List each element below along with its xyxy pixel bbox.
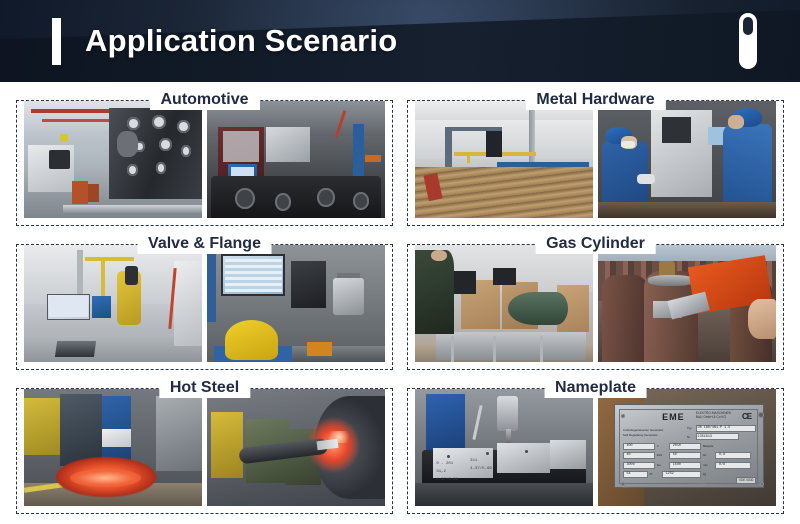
field-label: kg [703,472,706,476]
nameplate-brand-subtitle: ELEKTRO-MASCHINEN BAU GmbH & Co KG [696,412,731,419]
robot-cell-laptop-photo [24,245,202,362]
field-label: IP [650,472,653,476]
scenario-card-hot-steel[interactable]: Hot Steel [16,378,393,514]
card-label-valve-flange: Valve & Flange [137,234,272,254]
field-value: 2010 [673,444,681,448]
scenario-card-gas-cylinder[interactable]: Gas Cylinder [407,234,784,370]
title-accent-bar [52,18,61,65]
field-label: Nr [687,435,690,439]
page-header: Application Scenario [0,0,800,82]
scenario-card-nameplate[interactable]: Nameplate 0 - 201 311 31,2 4-37/5-90 4-3… [407,378,784,514]
field-value: 0,8 [719,453,725,457]
field-label: Hz [703,453,707,457]
field-label: Typ [687,426,692,430]
field-value: 54 [626,472,630,476]
steel-bar-gantry-photo [415,101,593,218]
workers-machining-photo [598,101,776,218]
field-label: kVA [657,453,662,457]
ce-mark-icon: CE [742,412,751,421]
field-value: 0/8 [719,463,725,467]
handheld-marking-device-icon [738,12,758,70]
nameplate-title-de: Antriebsgesteuerter Generator [623,428,664,432]
field-value: 1252 [666,472,674,476]
nameplate-brand: EME [662,412,685,422]
hot-steel-probe-photo [207,389,385,506]
eme-nameplate-photo: EME ELEKTRO-MASCHINEN BAU GmbH & Co KG C… [598,389,776,506]
automotive-press-line-photo [24,101,202,218]
card-photos: 0 - 201 311 31,2 4-37/5-90 4-37/5-90 [415,389,776,506]
field-value: 400 [626,444,632,448]
dot-peen-nameplate-photo: 0 - 201 311 31,2 4-37/5-90 4-37/5-90 [415,389,593,506]
engraved-line: 31,2 [436,470,446,474]
card-label-nameplate: Nameplate [544,378,647,398]
worker-yellow-helmet-photo [207,245,385,362]
card-photos [24,101,385,218]
field-label: Iso [657,463,661,467]
handheld-marker-cylinders-photo [598,245,776,362]
field-label: Baujahr [703,444,713,448]
field-value: DR 180/4N1-P 1.5 [698,426,731,430]
cylinder-conveyor-photo [415,245,593,362]
card-photos [24,389,385,506]
card-label-metal-hardware: Metal Hardware [525,90,665,110]
scenario-card-automotive[interactable]: Automotive [16,90,393,226]
card-label-automotive: Automotive [150,90,260,110]
card-photos [415,101,776,218]
card-photos [24,245,385,362]
engraved-line: 4-37/5-90 [470,467,492,471]
engraved-line: 0 - 201 [436,462,453,466]
engraved-line: 4-37/5-90 [436,478,458,482]
card-photos [415,245,776,362]
engraved-line: 311 [470,459,477,463]
card-label-gas-cylinder: Gas Cylinder [535,234,656,254]
card-label-hot-steel: Hot Steel [159,378,250,398]
page-title: Application Scenario [85,19,397,63]
field-label: min [703,463,708,467]
scenario-card-metal-hardware[interactable]: Metal Hardware [407,90,784,226]
scenario-grid: Automotive [0,82,800,524]
field-value: 1351813 [698,435,712,439]
automotive-parts-photo [207,101,385,218]
glowing-hot-wheel-photo [24,389,202,506]
nameplate-title-en: Self Regulating Generator [623,433,658,437]
vde-mark: VDE 0530 [736,477,757,484]
field-value: 1500 [673,463,681,467]
field-value: 50 [673,453,677,457]
scenario-card-valve-flange[interactable]: Valve & Flange [16,234,393,370]
field-value: 3000 [626,463,634,467]
field-label: V [657,444,659,448]
field-value: 40 [626,453,630,457]
